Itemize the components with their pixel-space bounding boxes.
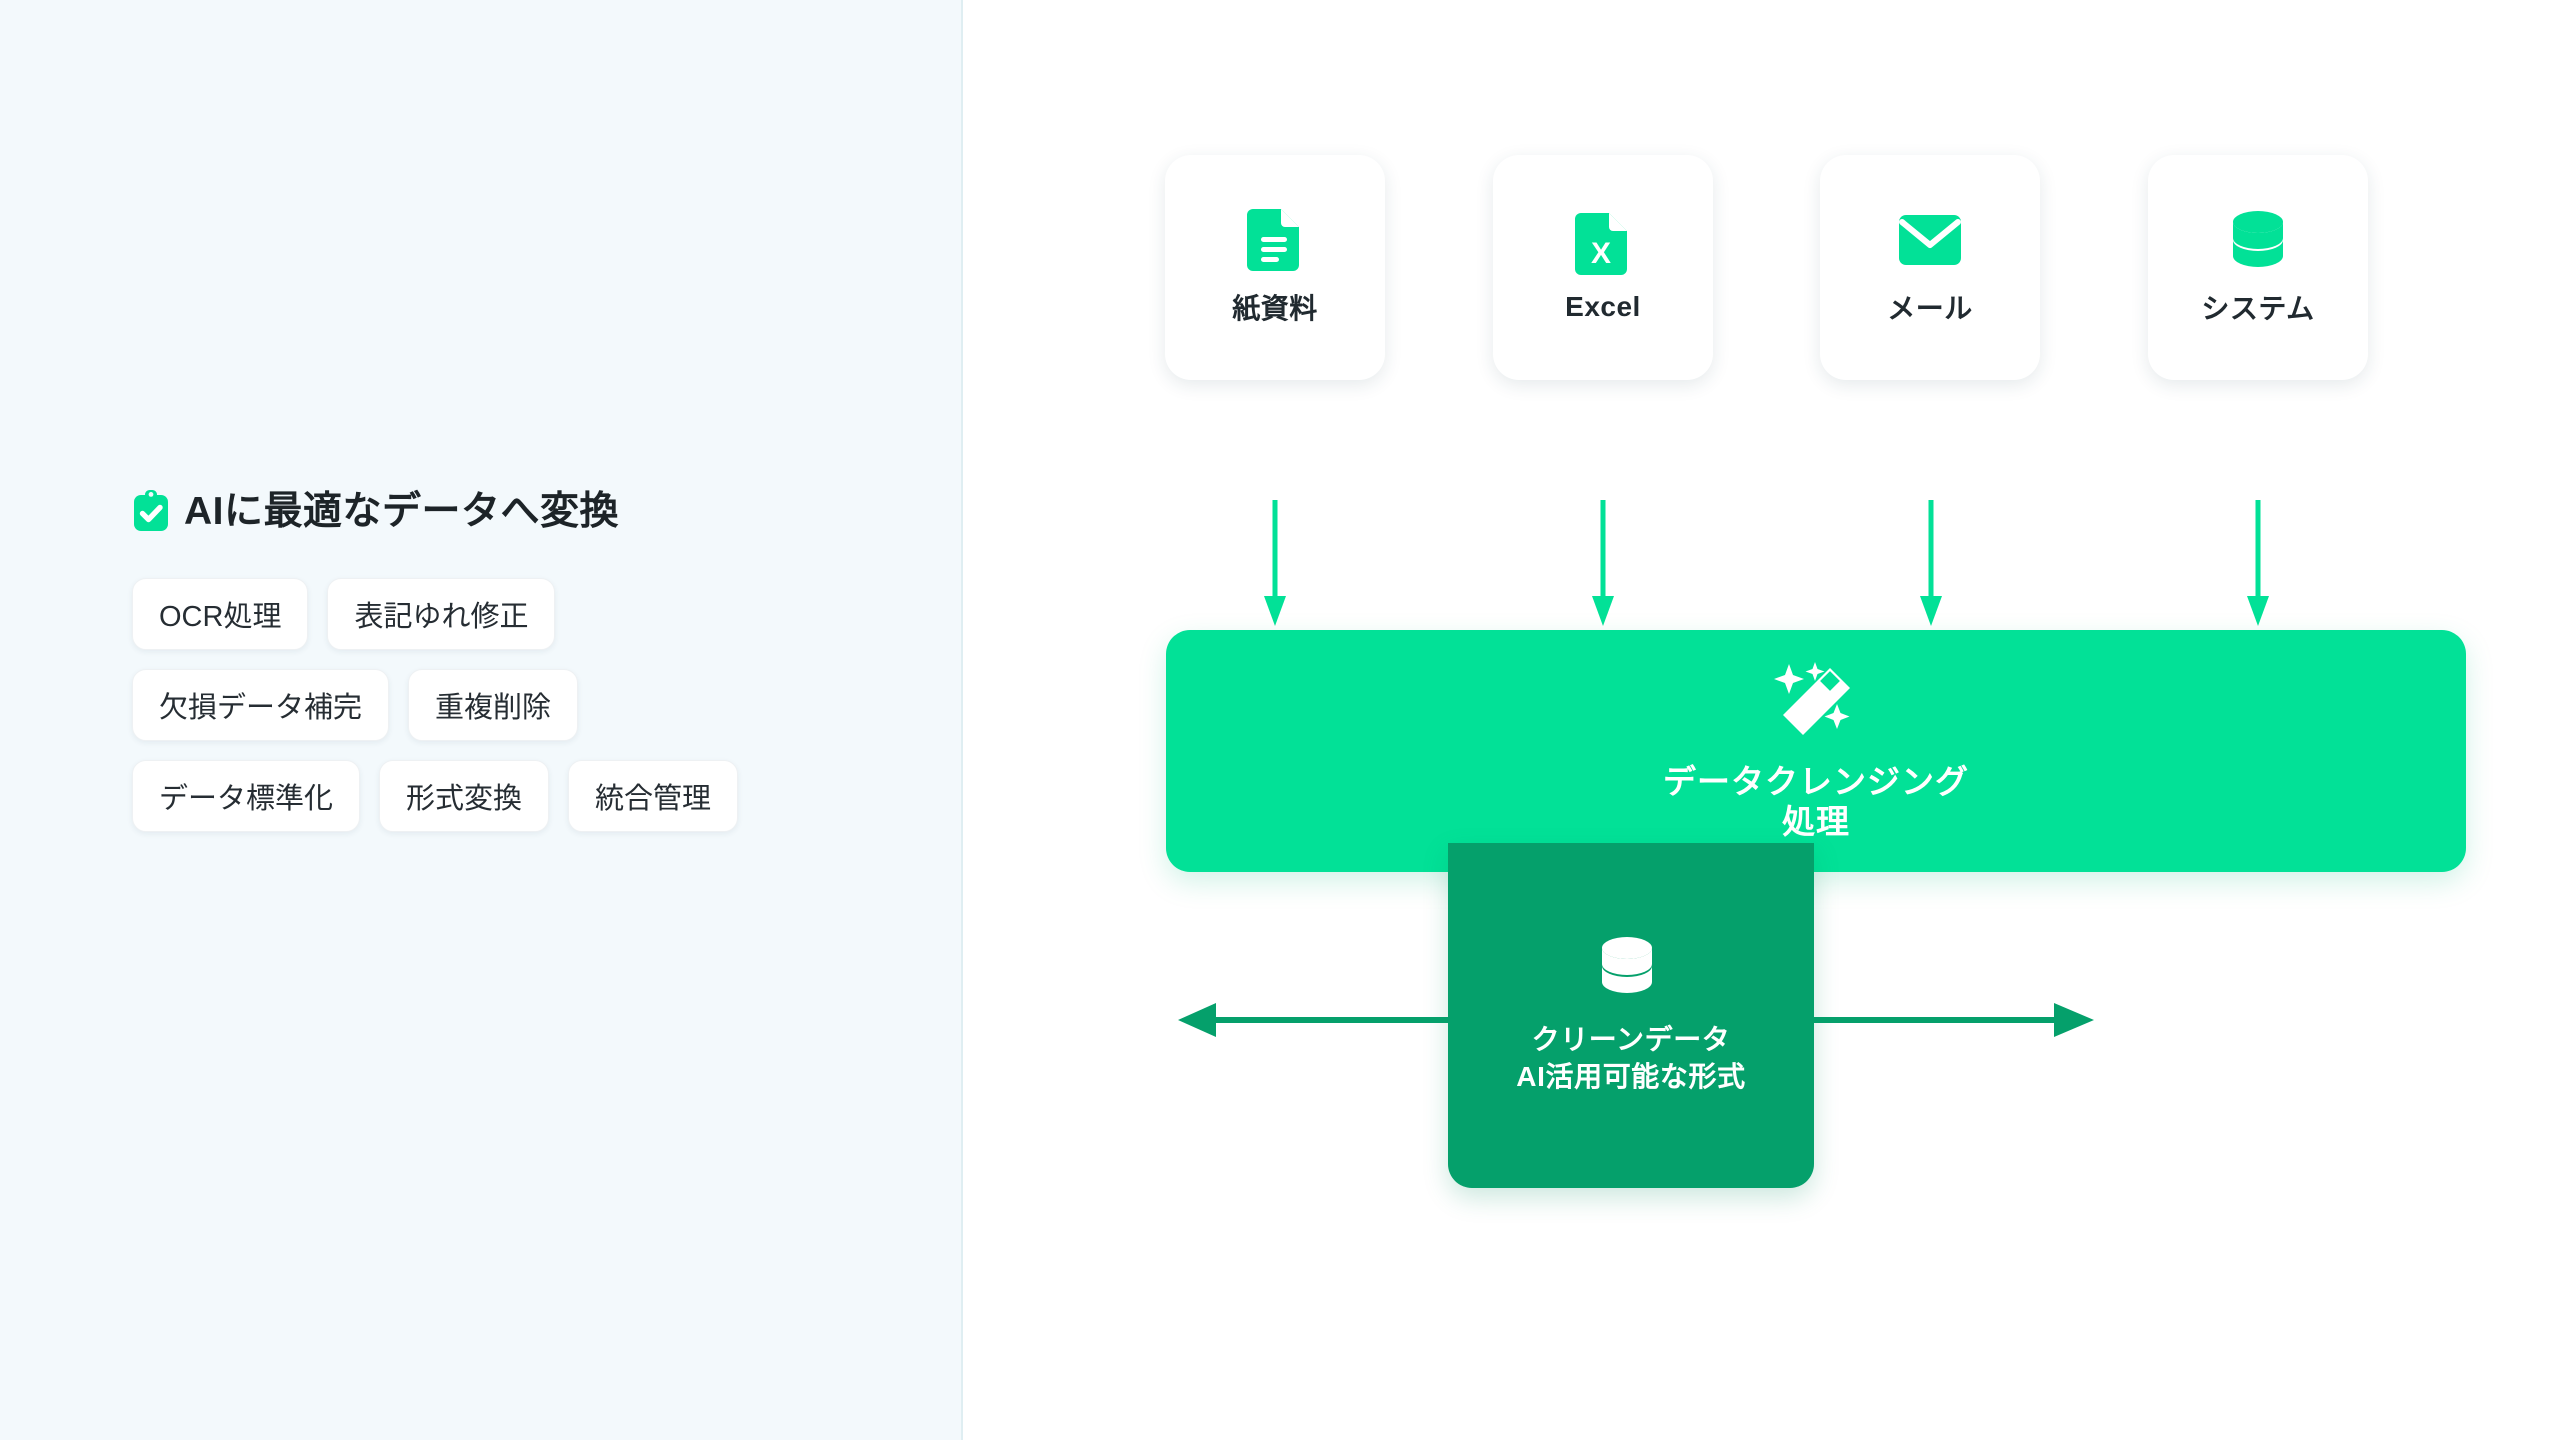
chip-missing-data[interactable]: 欠損データ補完 — [132, 669, 389, 741]
clipboard-check-icon — [132, 490, 170, 532]
source-label: システム — [2201, 287, 2314, 327]
source-label: メール — [1887, 287, 1973, 327]
chip-dedupe[interactable]: 重複削除 — [408, 669, 578, 741]
chip-row: データ標準化 形式変換 統合管理 — [132, 760, 892, 832]
envelope-icon — [1899, 209, 1961, 271]
source-label: 紙資料 — [1232, 287, 1318, 327]
chip-group: OCR処理 表記ゆれ修正 欠損データ補完 重複削除 データ標準化 形式変換 統合… — [132, 578, 892, 832]
chip-row: 欠損データ補完 重複削除 — [132, 669, 892, 741]
source-card-paper[interactable]: 紙資料 — [1165, 155, 1385, 380]
source-card-mail[interactable]: メール — [1820, 155, 2040, 380]
database-icon — [1598, 936, 1664, 1002]
left-panel-content: AIに最適なデータへ変換 OCR処理 表記ゆれ修正 欠損データ補完 重複削除 デ… — [132, 490, 892, 832]
output-box[interactable]: クリーンデータ AI活用可能な形式 — [1448, 843, 1814, 1188]
arrow-down-system — [2245, 500, 2271, 630]
chip-row: OCR処理 表記ゆれ修正 — [132, 578, 892, 650]
process-text: データクレンジング 処理 — [1663, 762, 1969, 843]
output-arrow-right — [1796, 1000, 2096, 1040]
process-box[interactable]: データクレンジング 処理 — [1166, 630, 2466, 872]
database-icon — [2227, 209, 2289, 271]
output-text: クリーンデータ AI活用可能な形式 — [1516, 1022, 1745, 1095]
excel-file-icon: X — [1572, 213, 1634, 275]
flow-diagram: 紙資料 X Excel メール — [963, 0, 2560, 1440]
source-label: Excel — [1565, 291, 1641, 323]
chip-notation-fix[interactable]: 表記ゆれ修正 — [327, 578, 555, 650]
output-arrow-left — [1176, 1000, 1466, 1040]
output-line-1: クリーンデータ — [1516, 1022, 1745, 1058]
chip-format-convert[interactable]: 形式変換 — [379, 760, 549, 832]
chip-ocr[interactable]: OCR処理 — [132, 578, 308, 650]
panel-title-row: AIに最適なデータへ変換 — [132, 490, 892, 532]
process-line-1: データクレンジング — [1663, 762, 1969, 802]
output-line-2: AI活用可能な形式 — [1516, 1059, 1745, 1095]
source-card-excel[interactable]: X Excel — [1493, 155, 1713, 380]
chip-standardize[interactable]: データ標準化 — [132, 760, 360, 832]
left-panel: AIに最適なデータへ変換 OCR処理 表記ゆれ修正 欠損データ補完 重複削除 デ… — [0, 0, 963, 1440]
arrow-down-mail — [1918, 500, 1944, 630]
magic-wand-sparkles-icon — [1773, 660, 1859, 746]
process-line-2: 処理 — [1663, 802, 1969, 842]
source-card-system[interactable]: システム — [2148, 155, 2368, 380]
svg-text:X: X — [1591, 237, 1611, 270]
page-title: AIに最適なデータへ変換 — [184, 492, 619, 531]
document-lines-icon — [1244, 209, 1306, 271]
arrow-down-paper — [1262, 500, 1288, 630]
chip-integration[interactable]: 統合管理 — [568, 760, 738, 832]
diagram-page: AIに最適なデータへ変換 OCR処理 表記ゆれ修正 欠損データ補完 重複削除 デ… — [0, 0, 2560, 1440]
arrow-down-excel — [1590, 500, 1616, 630]
